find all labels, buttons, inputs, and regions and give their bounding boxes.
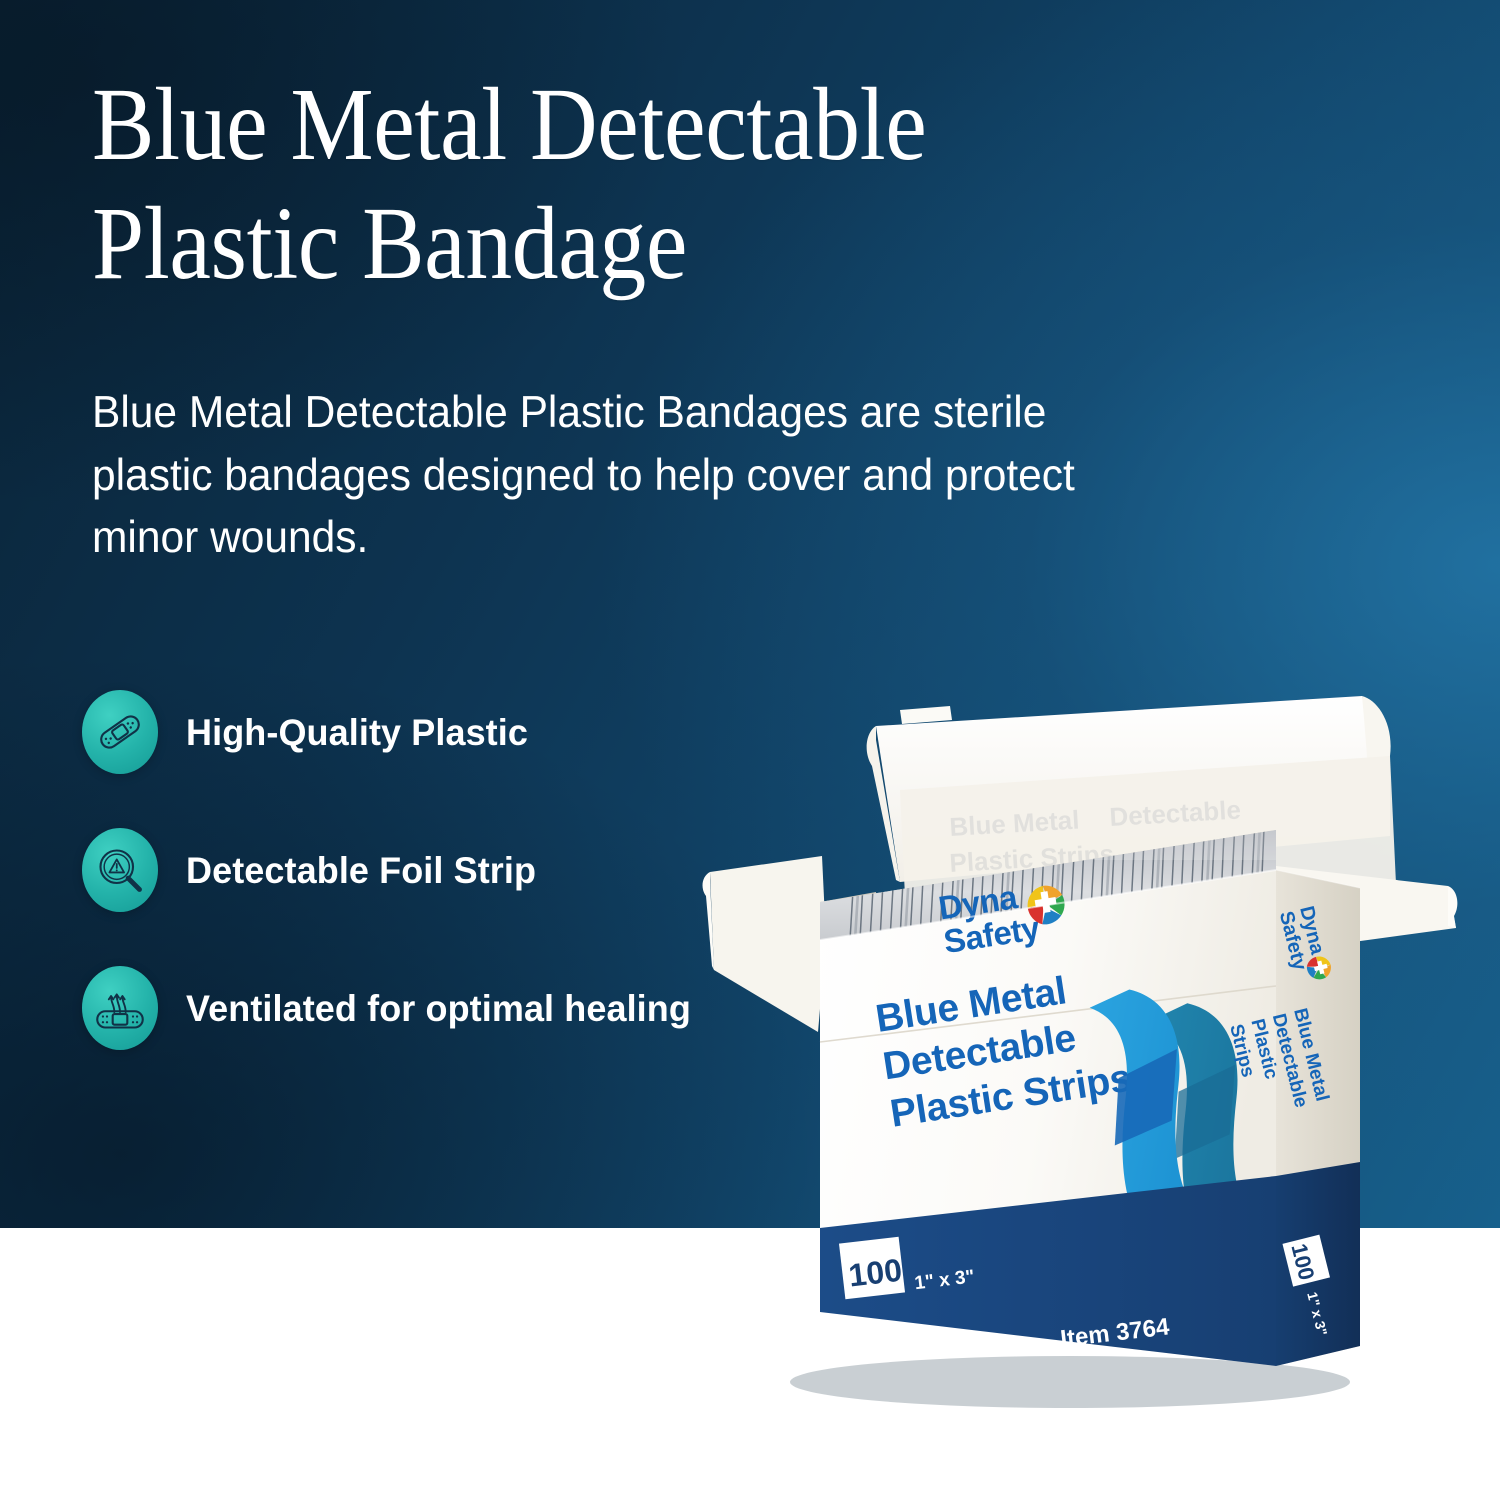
front-count-text: 100 bbox=[847, 1252, 904, 1294]
feature-label: Ventilated for optimal healing bbox=[186, 987, 691, 1030]
page-title: Blue Metal Detectable Plastic Bandage bbox=[92, 66, 1199, 303]
feature-label: High-Quality Plastic bbox=[186, 711, 528, 754]
bandage-icon bbox=[80, 688, 160, 776]
magnifier-warning-icon bbox=[80, 826, 160, 914]
product-marketing-image: Blue Metal Detectable Plastic Bandage Bl… bbox=[0, 0, 1500, 1500]
feature-label: Detectable Foil Strip bbox=[186, 849, 536, 892]
product-box-image: Blue Metal Detectable Plastic Strips bbox=[700, 640, 1460, 1430]
product-description: Blue Metal Detectable Plastic Bandages a… bbox=[92, 382, 1176, 570]
ventilated-bandage-icon bbox=[80, 964, 160, 1052]
